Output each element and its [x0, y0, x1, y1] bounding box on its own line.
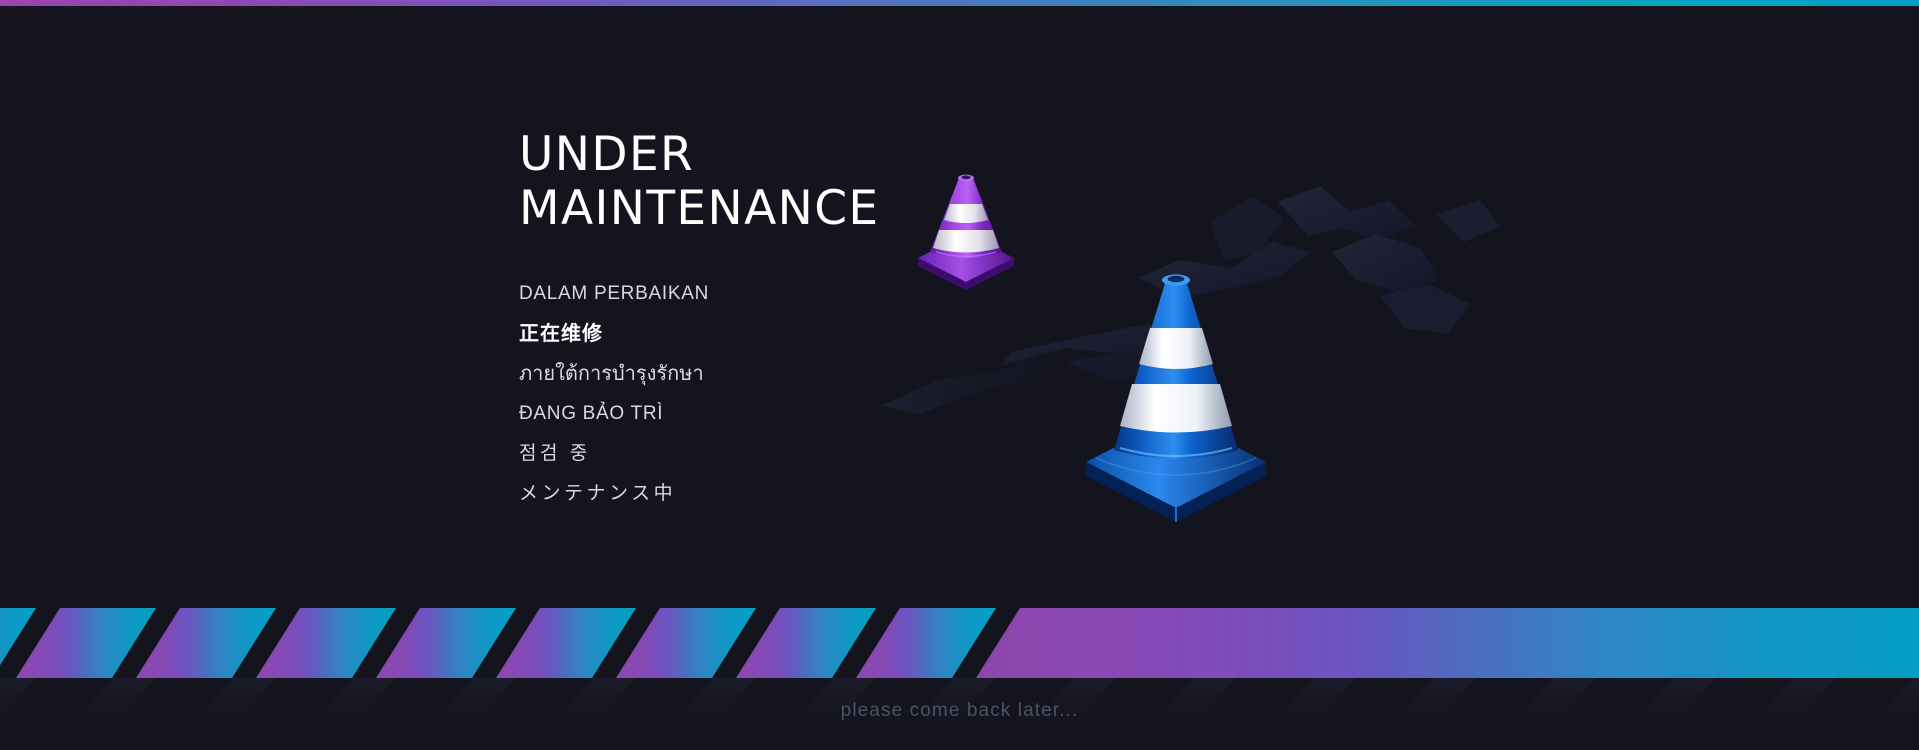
footer-message: please come back later... [841, 700, 1079, 721]
language-item-korean: 점검 중 [519, 434, 1079, 474]
language-item-indonesian: DALAM PERBAIKAN [519, 274, 1079, 314]
footer: please come back later... [0, 700, 1919, 722]
maintenance-page: UNDER MAINTENANCE DALAM PERBAIKAN 正在维修 ภ… [0, 0, 1919, 750]
language-item-japanese: メンテナンス中 [519, 474, 1079, 514]
language-list: DALAM PERBAIKAN 正在维修 ภายใต้การบำรุงรักษา… [519, 274, 1079, 514]
copy-block: UNDER MAINTENANCE DALAM PERBAIKAN 正在维修 ภ… [519, 128, 1079, 514]
blue-traffic-cone [1086, 274, 1266, 522]
language-item-vietnamese: ĐANG BẢO TRÌ [519, 394, 1079, 434]
top-accent-bar [0, 0, 1919, 6]
language-item-thai: ภายใต้การบำรุงรักษา [519, 354, 1079, 394]
hazard-stripe-band [0, 602, 1919, 684]
page-title: UNDER MAINTENANCE [519, 128, 1079, 236]
language-item-chinese: 正在维修 [519, 314, 1079, 354]
